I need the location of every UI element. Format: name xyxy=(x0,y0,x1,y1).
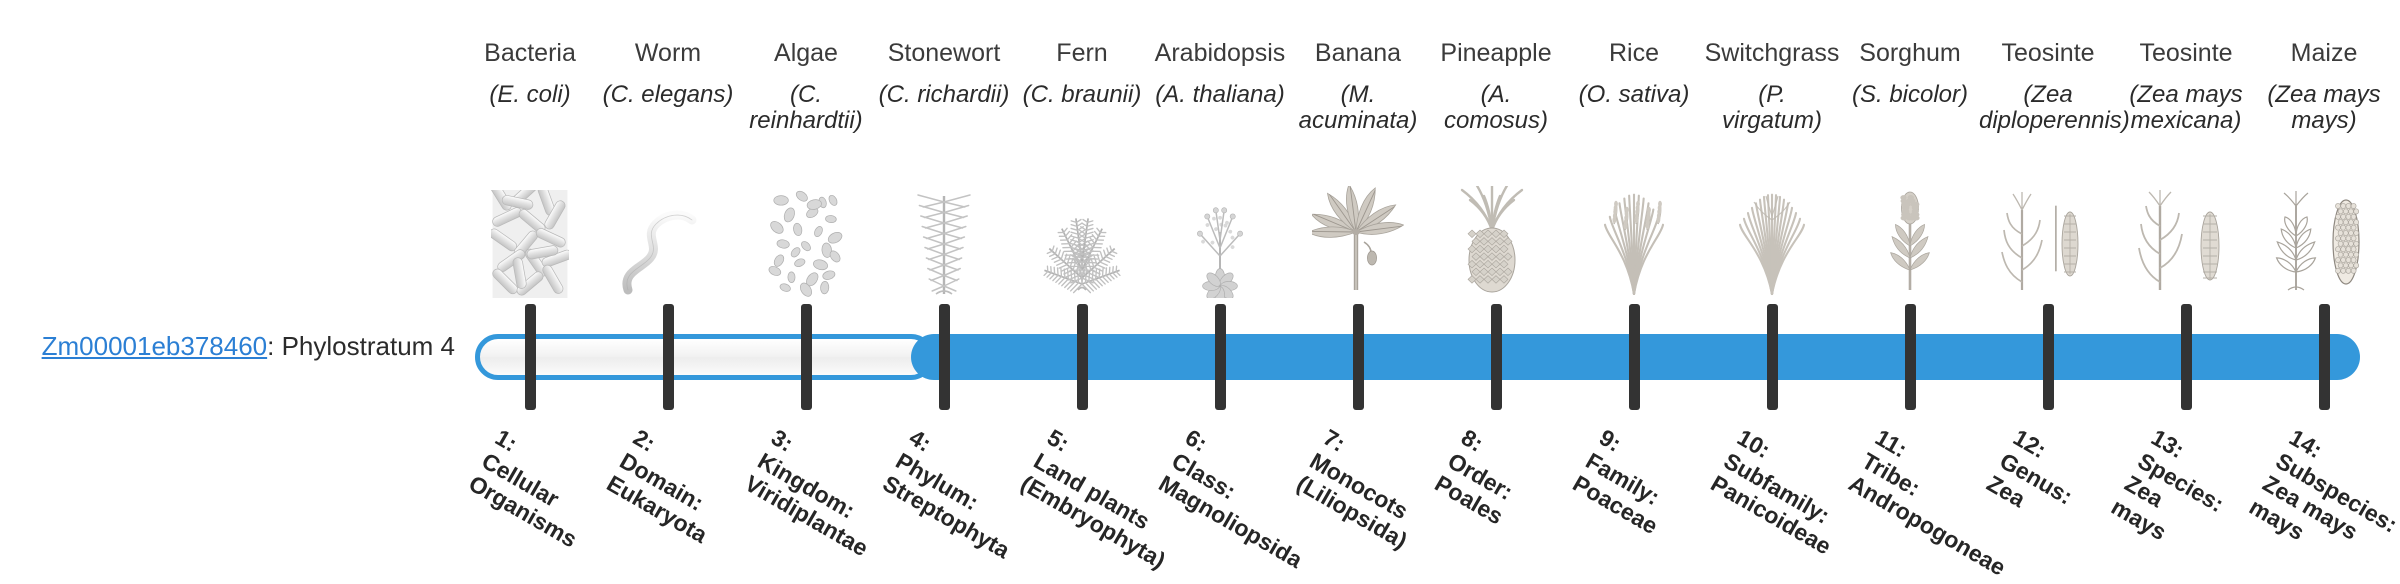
fern-illustration xyxy=(1013,170,1151,298)
phylostratum-value: Phylostratum 4 xyxy=(282,331,455,361)
stratum-tick-13[interactable] xyxy=(2181,304,2192,410)
species-scientific-name-line: comosus) xyxy=(1427,108,1565,135)
species-scientific-name-line: (A. thaliana) xyxy=(1151,82,1289,109)
stratum-tick-6[interactable] xyxy=(1215,304,1226,410)
species-scientific-name: (A. thaliana) xyxy=(1151,82,1289,109)
stratum-label-14[interactable]: 14:Subspecies:Zea maysmays xyxy=(2245,424,2400,584)
algae-illustration xyxy=(737,170,875,298)
sorghum-illustration xyxy=(1841,170,1979,298)
species-common-name: Maize xyxy=(2255,40,2393,68)
progress-track xyxy=(475,334,934,380)
bacteria-illustration xyxy=(461,170,599,298)
species-scientific-name-line: (C. xyxy=(737,82,875,109)
species-column-switchgrass-10: Switchgrass(P.virgatum) xyxy=(1703,40,1841,135)
species-scientific-name-line: (C. braunii) xyxy=(1013,82,1151,109)
teosinte-mexicana-illustration xyxy=(2117,170,2255,298)
species-scientific-name-line: acuminata) xyxy=(1289,108,1427,135)
switchgrass-illustration xyxy=(1703,170,1841,298)
species-scientific-name-line: mexicana) xyxy=(2117,108,2255,135)
species-scientific-name: (E. coli) xyxy=(461,82,599,109)
stratum-label-9[interactable]: 9:Family:Poaceae xyxy=(1568,424,1689,540)
phylostratum-chart: Zm00001eb378460: Phylostratum 4 Bacteria… xyxy=(0,0,2400,580)
species-scientific-name-line: (E. coli) xyxy=(461,82,599,109)
species-scientific-name: (C. braunii) xyxy=(1013,82,1151,109)
stratum-label-3[interactable]: 3:Kingdom:Viridiplantae xyxy=(740,424,899,562)
species-column-pineapple-8: Pineapple(A.comosus) xyxy=(1427,40,1565,135)
stratum-tick-1[interactable] xyxy=(525,304,536,410)
stratum-tick-4[interactable] xyxy=(939,304,950,410)
species-column-maize-14: Maize(Zea maysmays) xyxy=(2255,40,2393,135)
stratum-label-13[interactable]: 13:Species:Zeamays xyxy=(2107,424,2242,564)
species-column-worm-2: Worm(C. elegans) xyxy=(599,40,737,108)
species-column-sorghum-11: Sorghum(S. bicolor) xyxy=(1841,40,1979,108)
pineapple-illustration xyxy=(1427,170,1565,298)
nematode-illustration xyxy=(599,170,737,298)
species-common-name: Worm xyxy=(599,40,737,68)
species-common-name: Stonewort xyxy=(875,40,1013,68)
stratum-tick-12[interactable] xyxy=(2043,304,2054,410)
species-common-name: Arabidopsis xyxy=(1151,40,1289,68)
species-common-name: Fern xyxy=(1013,40,1151,68)
stratum-tick-5[interactable] xyxy=(1077,304,1088,410)
species-column-teosinte-12: Teosinte(Zeadiploperennis) xyxy=(1979,40,2117,135)
stratum-tick-10[interactable] xyxy=(1767,304,1778,410)
species-column-teosinte-13: Teosinte(Zea maysmexicana) xyxy=(2117,40,2255,135)
species-scientific-name: (Zea maysmays) xyxy=(2255,82,2393,136)
stonewort-illustration xyxy=(875,170,1013,298)
species-scientific-name-line: (Zea mays xyxy=(2255,82,2393,109)
species-scientific-name-line: (Zea mays xyxy=(2117,82,2255,109)
stratum-tick-11[interactable] xyxy=(1905,304,1916,410)
species-scientific-name: (A.comosus) xyxy=(1427,82,1565,136)
gene-id-link[interactable]: Zm00001eb378460 xyxy=(42,331,268,361)
arabidopsis-illustration xyxy=(1151,170,1289,298)
species-column-banana-7: Banana(M.acuminata) xyxy=(1289,40,1427,135)
species-common-name: Pineapple xyxy=(1427,40,1565,68)
gene-phylostratum-label: Zm00001eb378460: Phylostratum 4 xyxy=(0,331,455,362)
stratum-tick-3[interactable] xyxy=(801,304,812,410)
species-scientific-name-line: reinhardtii) xyxy=(737,108,875,135)
species-scientific-name: (C.reinhardtii) xyxy=(737,82,875,136)
species-scientific-name-line: virgatum) xyxy=(1703,108,1841,135)
phylostratum-progress-bar[interactable] xyxy=(475,334,2360,380)
species-scientific-name: (Zea maysmexicana) xyxy=(2117,82,2255,136)
species-common-name: Teosinte xyxy=(2117,40,2255,68)
species-scientific-name-line: (C. elegans) xyxy=(599,82,737,109)
species-scientific-name-line: (Zea xyxy=(1979,82,2117,109)
species-column-fern-5: Fern(C. braunii) xyxy=(1013,40,1151,108)
stratum-label-10[interactable]: 10:Subfamily:Panicoideae xyxy=(1706,424,1862,560)
stratum-tick-14[interactable] xyxy=(2319,304,2330,410)
species-common-name: Rice xyxy=(1565,40,1703,68)
stratum-tick-9[interactable] xyxy=(1629,304,1640,410)
stratum-label-1[interactable]: 1:CellularOrganisms xyxy=(464,424,608,553)
species-column-stonewort-4: Stonewort(C. richardii) xyxy=(875,40,1013,108)
species-column-arabidopsis-6: Arabidopsis(A. thaliana) xyxy=(1151,40,1289,108)
progress-right-cap xyxy=(2337,334,2360,380)
stratum-label-2[interactable]: 2:Domain:Eukaryota xyxy=(602,424,738,549)
stratum-tick-2[interactable] xyxy=(663,304,674,410)
species-common-name: Teosinte xyxy=(1979,40,2117,68)
species-common-name: Switchgrass xyxy=(1703,40,1841,68)
species-scientific-name-line: (S. bicolor) xyxy=(1841,82,1979,109)
gene-label-separator: : xyxy=(267,331,281,361)
species-scientific-name: (S. bicolor) xyxy=(1841,82,1979,109)
species-scientific-name: (P.virgatum) xyxy=(1703,82,1841,136)
species-scientific-name: (M.acuminata) xyxy=(1289,82,1427,136)
species-common-name: Sorghum xyxy=(1841,40,1979,68)
teosinte-diploperennis-illustration xyxy=(1979,170,2117,298)
species-scientific-name-line: mays) xyxy=(2255,108,2393,135)
stratum-tick-8[interactable] xyxy=(1491,304,1502,410)
species-scientific-name: (Zeadiploperennis) xyxy=(1979,82,2117,136)
species-scientific-name-line: (A. xyxy=(1427,82,1565,109)
species-scientific-name-line: diploperennis) xyxy=(1979,108,2117,135)
species-column-algae-3: Algae(C.reinhardtii) xyxy=(737,40,875,135)
stratum-label-8[interactable]: 8:Order:Poales xyxy=(1430,424,1534,530)
species-column-bacteria-1: Bacteria(E. coli) xyxy=(461,40,599,108)
species-scientific-name-line: (C. richardii) xyxy=(875,82,1013,109)
species-common-name: Banana xyxy=(1289,40,1427,68)
species-scientific-name: (C. richardii) xyxy=(875,82,1013,109)
species-common-name: Bacteria xyxy=(461,40,599,68)
species-scientific-name: (C. elegans) xyxy=(599,82,737,109)
banana-illustration xyxy=(1289,170,1427,298)
species-column-rice-9: Rice(O. sativa) xyxy=(1565,40,1703,108)
stratum-tick-7[interactable] xyxy=(1353,304,1364,410)
species-scientific-name-line: (M. xyxy=(1289,82,1427,109)
species-scientific-name-line: (O. sativa) xyxy=(1565,82,1703,109)
maize-illustration xyxy=(2255,170,2393,298)
species-scientific-name-line: (P. xyxy=(1703,82,1841,109)
rice-illustration xyxy=(1565,170,1703,298)
species-common-name: Algae xyxy=(737,40,875,68)
species-scientific-name: (O. sativa) xyxy=(1565,82,1703,109)
